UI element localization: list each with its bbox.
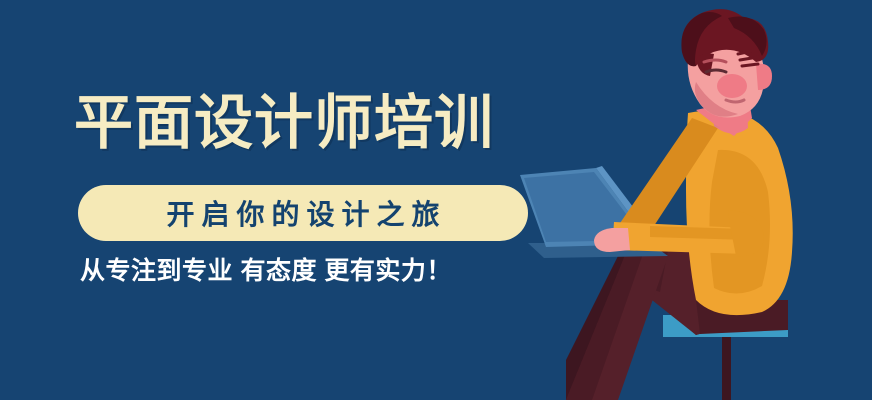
stool-pole	[722, 330, 731, 400]
subtitle-pill: 开启你的设计之旅	[78, 185, 528, 241]
subtitle-pill-label: 开启你的设计之旅	[159, 193, 446, 233]
man-with-laptop-illustration	[500, 0, 872, 400]
text-block: 平面设计师培训 开启你的设计之旅 从专注到专业 有态度 更有实力！	[0, 0, 545, 400]
page-title: 平面设计师培训	[74, 91, 494, 155]
cheek-blush	[717, 74, 747, 98]
tagline: 从专注到专业 有态度 更有实力！	[80, 255, 452, 287]
ear	[756, 64, 772, 90]
illustration	[500, 0, 872, 400]
promo-banner: 平面设计师培训 开启你的设计之旅 从专注到专业 有态度 更有实力！	[0, 0, 872, 400]
